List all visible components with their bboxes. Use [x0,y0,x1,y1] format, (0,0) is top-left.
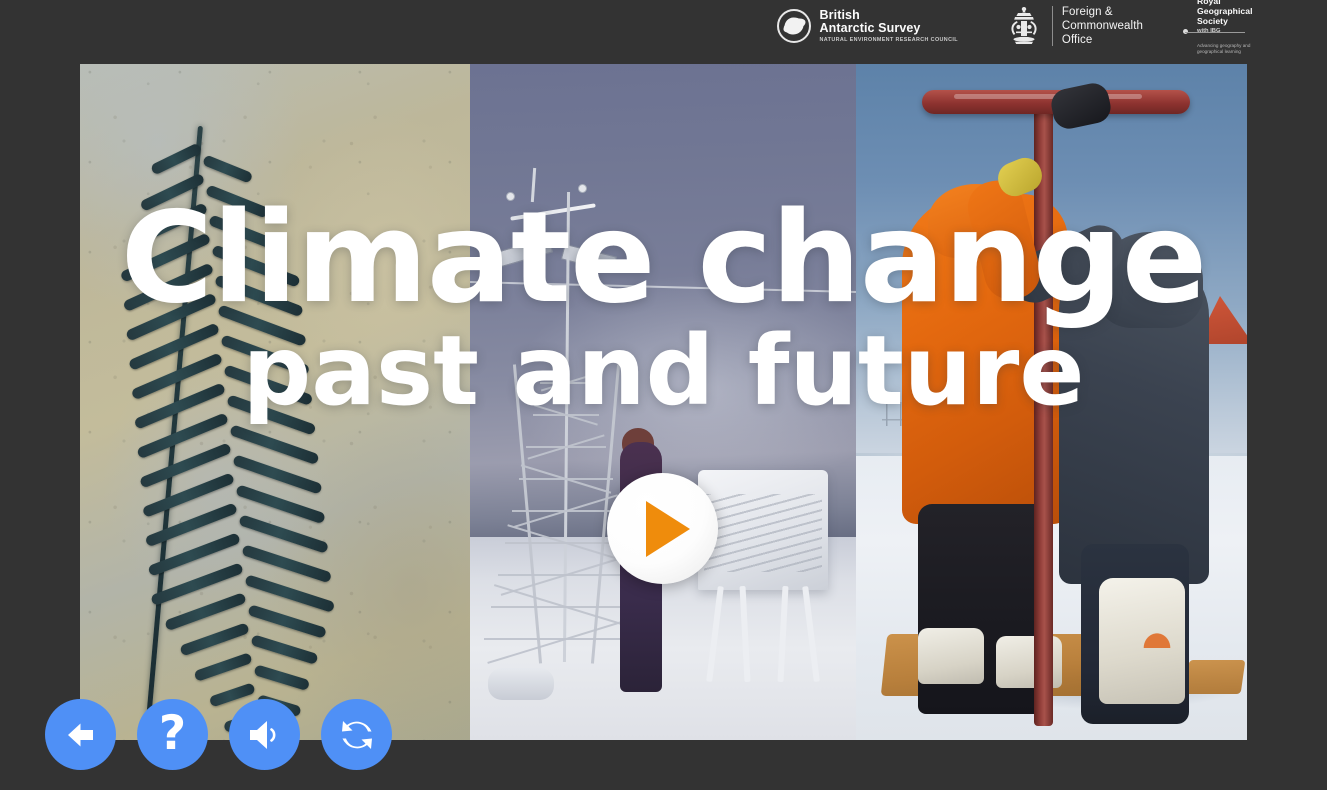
restart-button[interactable] [321,699,392,770]
hero-panel-weather-station [470,64,856,740]
sandstone-texture [80,64,470,740]
play-button[interactable] [607,473,718,584]
bas-subtitle: NATURAL ENVIRONMENT RESEARCH COUNCIL [820,38,958,44]
bas-line2: Antarctic Survey [820,22,958,35]
bas-line1: British [820,9,958,22]
rgs-line2: Geographical [1197,6,1259,16]
help-button[interactable]: ? [137,699,208,770]
sound-button[interactable] [229,699,300,770]
back-button[interactable] [45,699,116,770]
anemometer-cup-right [578,184,587,193]
rgs-tagline: Advancing geography and geographical lea… [1197,43,1259,56]
anemometer-cup-left [506,192,515,201]
hero-panel-ice-coring [856,64,1247,740]
fco-line2: Commonwealth [1062,19,1143,33]
logo-british-antarctic-survey: British Antarctic Survey NATURAL ENVIRON… [777,3,958,49]
logo-divider [1052,6,1053,46]
rgs-line3: Society [1197,16,1259,26]
shelter-legs [708,586,816,684]
royal-crest-icon [1004,5,1044,47]
hero-image-collage [80,64,1247,740]
snow-covered-drum [488,668,554,700]
shelter-louvres [704,494,822,572]
fco-line3: Office [1062,33,1143,47]
control-bar: ? [45,699,392,770]
hero-panel-fossil-fern [80,64,470,740]
fco-line1: Foreign & [1062,5,1143,19]
logo-foreign-commonwealth-office: Foreign & Commonwealth Office [1004,3,1143,49]
sponsor-logo-bar: British Antarctic Survey NATURAL ENVIRON… [0,0,1327,52]
boot-brand-mark [1137,626,1177,648]
presentation-stage: British Antarctic Survey NATURAL ENVIRON… [0,0,1327,790]
speaker-icon [245,718,285,752]
antarctica-circle-icon [777,9,811,43]
back-arrow-icon [62,716,100,754]
ice-core-drill-shaft [1034,106,1053,726]
question-mark-icon: ? [159,710,186,757]
refresh-icon [338,716,376,754]
scientist-orange-boot-left [918,628,984,684]
logo-royal-geographical-society: Royal Geographical Society with IBG Adva… [1183,3,1259,49]
plywood-board-right [1185,660,1246,694]
rgs-rule [1185,32,1245,33]
play-triangle-icon [646,501,690,557]
